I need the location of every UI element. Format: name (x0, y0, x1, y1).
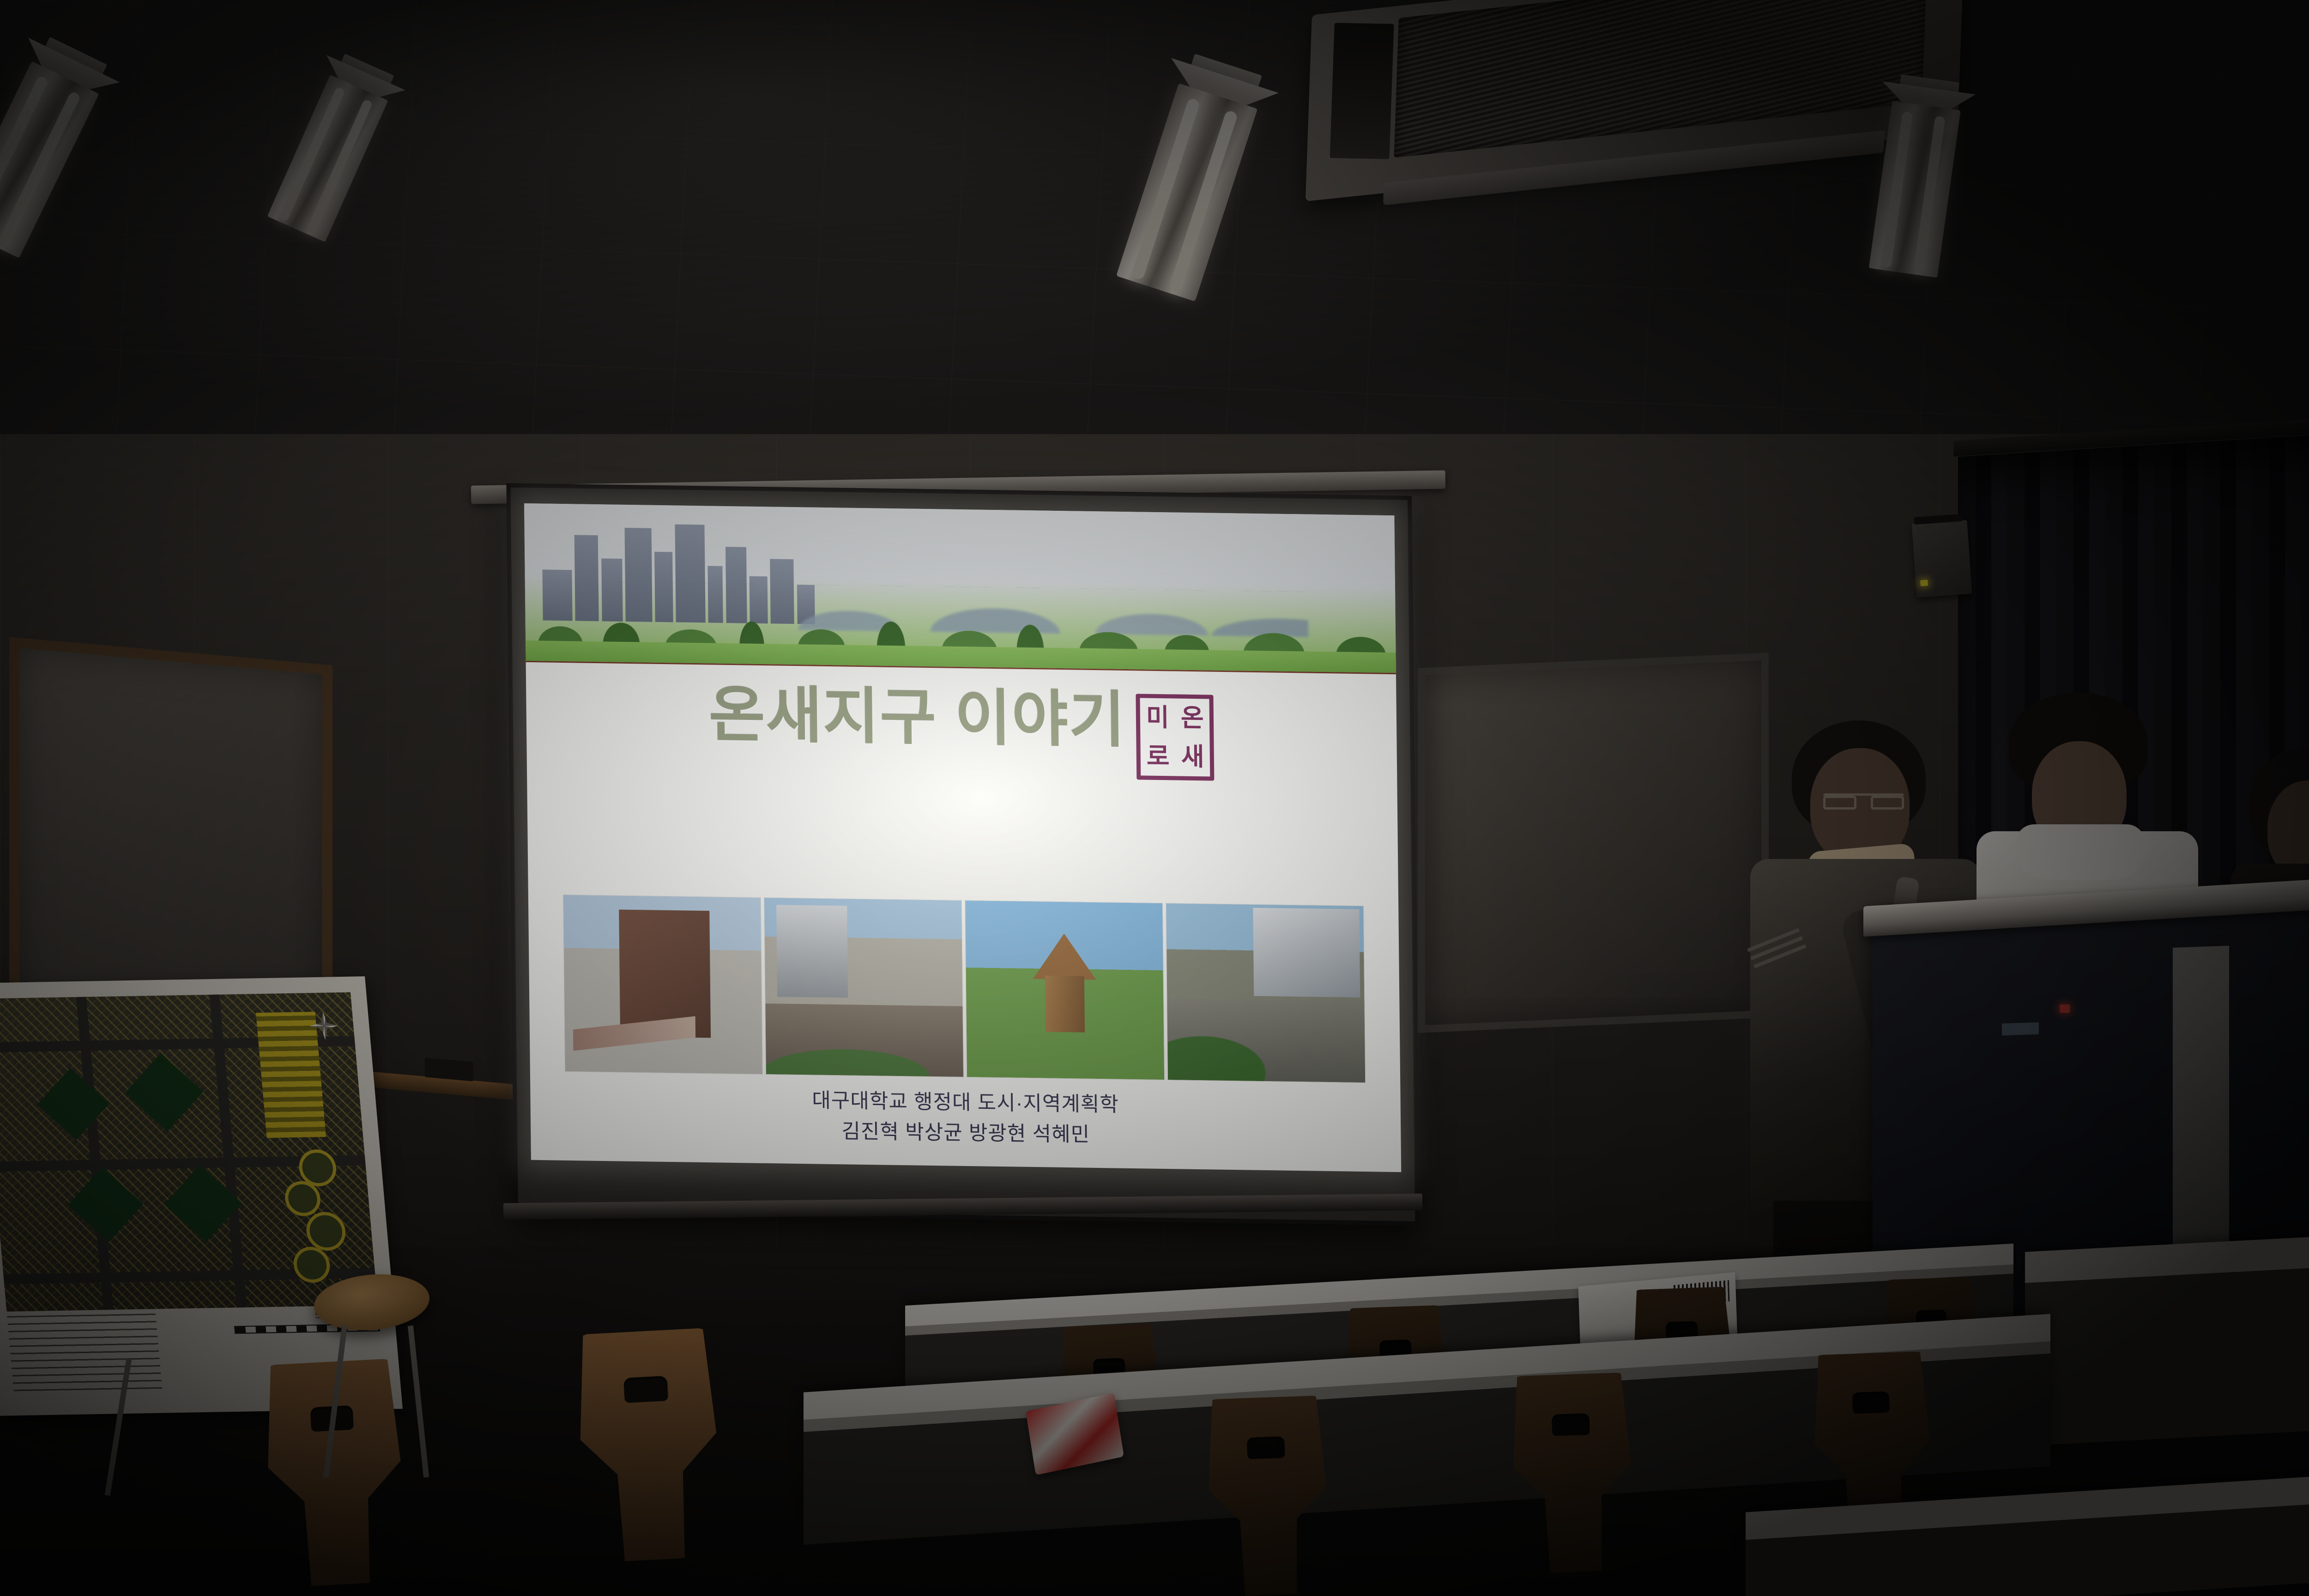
whiteboard-right (1418, 653, 1769, 1033)
slide-photo-strip (563, 895, 1365, 1083)
brand-seal-stamp-icon: 미 온 로 새 (1136, 694, 1215, 780)
board-frame (1418, 653, 1769, 1033)
slide-title-zone: 온새지구 이야기 미 온 로 새 (526, 662, 1398, 906)
lectern-label-plate (2002, 1022, 2039, 1036)
rendering-photo (563, 895, 763, 1075)
page-title: 온새지구 이야기 (709, 684, 1126, 751)
seal-char-1: 미 (1140, 698, 1175, 737)
rendering-photo (764, 897, 964, 1077)
rendering-photo (965, 900, 1165, 1080)
projection-screen[interactable]: 온새지구 이야기 미 온 로 새 대구대학교 행정대 도시·지역계획학 김진혁 (507, 483, 1420, 1225)
presentation-slide: 온새지구 이야기 미 온 로 새 대구대학교 행정대 도시·지역계획학 김진혁 (524, 503, 1401, 1172)
glasses-icon (1823, 793, 1904, 810)
wall-speaker-icon (1912, 520, 1972, 598)
poster-block-strip (255, 1012, 326, 1138)
hood (2016, 824, 2145, 880)
seal-char-3: 로 (1141, 737, 1176, 776)
seal-char-4: 새 (1175, 737, 1210, 776)
seal-char-2: 온 (1175, 698, 1210, 738)
lecture-hall-photo: 온새지구 이야기 미 온 로 새 대구대학교 행정대 도시·지역계획학 김진혁 (0, 0, 2309, 1596)
rendering-photo (1166, 903, 1366, 1083)
slide-hero-image (524, 503, 1396, 674)
poster-legend (7, 1314, 162, 1392)
power-led (2060, 1004, 2070, 1013)
ac-vane (1330, 23, 1394, 159)
side-table (2025, 1233, 2309, 1446)
poster-map (0, 992, 378, 1312)
slide-footer: 대구대학교 행정대 도시·지역계획학 김진혁 박상균 방광현 석혜민 (530, 1071, 1401, 1172)
status-led (1920, 580, 1928, 586)
